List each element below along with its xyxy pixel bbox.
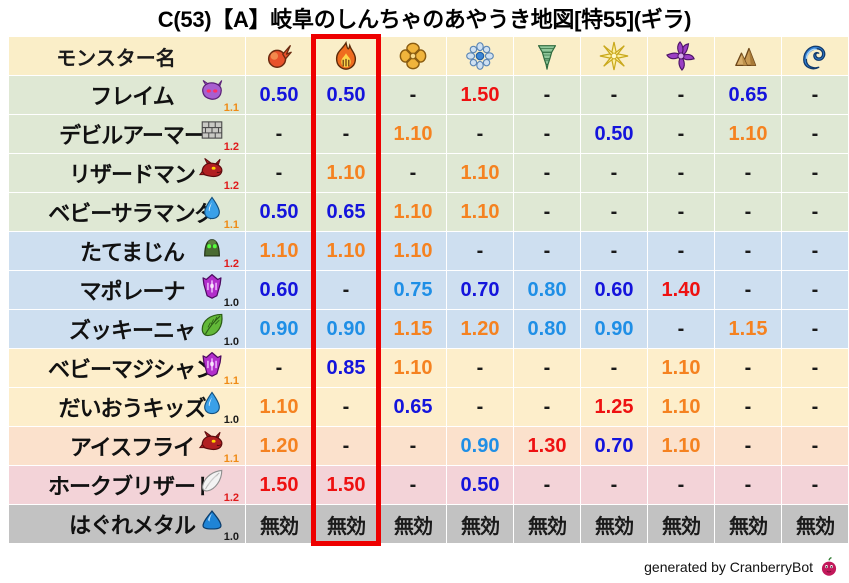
resistance-cell[interactable]: 0.50 [581,115,647,153]
resistance-cell[interactable]: 1.15 [380,310,446,348]
resistance-cell[interactable]: - [581,349,647,387]
monster-icon-box: 1.1 [197,429,239,465]
resistance-cell[interactable]: 無効 [715,505,781,543]
monster-name-label: デビルアーマー [59,118,205,150]
table-row[interactable]: デビルアーマー1.2--1.10--0.50-1.10- [9,115,848,153]
resistance-cell[interactable]: - [715,427,781,465]
resistance-cell[interactable]: - [782,310,848,348]
monster-icon-box: 1.0 [197,312,239,348]
resistance-cell[interactable]: 無効 [648,505,714,543]
resistance-cell[interactable]: - [447,349,513,387]
resistance-cell[interactable]: - [447,232,513,270]
red-dragon-icon [199,156,225,182]
resistance-cell[interactable]: - [715,271,781,309]
monster-name-cell[interactable]: ベビーサラマンダ1.1 [9,193,245,231]
monster-icon-box: 1.1 [197,195,239,231]
monster-name-label: ズッキーニャ [69,313,195,345]
red-dragon-icon [199,429,225,455]
resistance-cell[interactable]: 0.65 [313,193,379,231]
purple-blob-icon [199,78,225,104]
white-feather-icon [199,468,225,494]
resistance-cell[interactable]: - [380,154,446,192]
resistance-cell[interactable]: - [581,193,647,231]
monster-version-label: 1.2 [224,493,239,504]
resistance-cell[interactable]: - [514,388,580,426]
monster-icon-box: 1.1 [197,351,239,387]
resistance-cell[interactable]: - [581,466,647,504]
resistance-cell[interactable]: 無効 [447,505,513,543]
monster-name-label: アイスフライ [70,430,194,462]
resistance-cell[interactable]: - [313,271,379,309]
monster-name-label: フレイム [90,79,174,111]
monster-version-label: 1.1 [224,454,239,465]
monster-version-label: 1.2 [224,142,239,153]
resistance-cell[interactable]: 無効 [514,505,580,543]
resistance-cell[interactable]: 1.50 [313,466,379,504]
monster-version-label: 1.0 [224,415,239,426]
fireball-icon [264,41,294,71]
resistance-cell[interactable]: 1.40 [648,271,714,309]
page-root: C(53)【A】岐阜のしんちゃのあやうき地図[特55](ギラ) モンスター名 フ… [0,0,849,583]
resistance-cell[interactable]: 0.70 [447,271,513,309]
resistance-cell[interactable]: - [246,349,312,387]
column-header-star[interactable] [581,37,647,75]
resistance-cell[interactable]: 0.70 [581,427,647,465]
monster-name-label: マポレーナ [79,274,184,306]
monster-name-label: たてまじん [80,235,184,267]
blue-slime-icon [199,507,225,533]
brick-icon [199,117,225,143]
resistance-cell[interactable]: - [514,193,580,231]
monster-icon-box: 1.0 [197,390,239,426]
page-title: C(53)【A】岐阜のしんちゃのあやうき地図[特55](ギラ) [0,2,849,34]
monster-name-cell[interactable]: フレイム1.1 [9,76,245,114]
flame-icon [331,41,361,71]
resistance-cell[interactable]: 0.80 [514,310,580,348]
resistance-cell[interactable]: - [782,115,848,153]
resistance-cell[interactable]: - [648,193,714,231]
table-row[interactable]: はぐれメタル1.0無効無効無効無効無効無効無効無効無効 [9,505,848,543]
table-body: フレイム1.10.500.50-1.50---0.65-デビルアーマー1.2--… [9,76,848,543]
column-header-flame[interactable] [313,37,379,75]
monster-version-label: 1.0 [224,337,239,348]
tornado-icon [532,41,562,71]
resistance-cell[interactable]: - [782,349,848,387]
mountain-icon [733,41,763,71]
column-header-mountain[interactable] [715,37,781,75]
resistance-cell[interactable]: 1.10 [313,154,379,192]
monster-name-header: モンスター名 [9,37,245,75]
monster-name-cell[interactable]: アイスフライ1.1 [9,427,245,465]
water-drop-icon [199,390,225,416]
table-row[interactable]: アイスフライ1.11.20--0.901.300.701.10-- [9,427,848,465]
resistance-cell[interactable]: 無効 [782,505,848,543]
resistance-cell[interactable]: - [514,349,580,387]
resistance-cell[interactable]: - [715,388,781,426]
resistance-cell[interactable]: - [514,115,580,153]
resistance-cell[interactable]: - [313,427,379,465]
resistance-cell[interactable]: 1.20 [246,427,312,465]
table-row[interactable]: ズッキーニャ1.00.900.901.151.200.800.90-1.15- [9,310,848,348]
resistance-cell[interactable]: 1.20 [447,310,513,348]
resistance-cell[interactable]: 1.10 [715,115,781,153]
monster-resistance-table-wrap: モンスター名 フレイム1.10.500.50-1.50---0.65-デビルアー… [8,36,842,544]
wave-icon [800,41,830,71]
resistance-cell[interactable]: 0.50 [447,466,513,504]
monster-name-label: ホークブリザード [48,469,216,501]
resistance-cell[interactable]: 1.10 [246,232,312,270]
resistance-cell[interactable]: - [648,154,714,192]
monster-name-cell[interactable]: だいおうキッズ1.0 [9,388,245,426]
resistance-cell[interactable]: 1.30 [514,427,580,465]
leaf-icon [199,312,225,338]
column-header-tornado[interactable] [514,37,580,75]
water-drop-icon [199,195,225,221]
resistance-cell[interactable]: 無効 [581,505,647,543]
monster-name-cell[interactable]: リザードマン1.2 [9,154,245,192]
resistance-cell[interactable]: - [514,154,580,192]
resistance-cell[interactable]: - [380,466,446,504]
resistance-cell[interactable]: - [514,76,580,114]
swirl-icon [666,41,696,71]
resistance-cell[interactable]: - [782,193,848,231]
column-header-snowflake[interactable] [447,37,513,75]
resistance-cell[interactable]: 無効 [246,505,312,543]
table-row[interactable]: たてまじん1.21.101.101.10------ [9,232,848,270]
resistance-cell[interactable]: - [246,154,312,192]
monster-version-label: 1.0 [224,298,239,309]
monster-resistance-table: モンスター名 フレイム1.10.500.50-1.50---0.65-デビルアー… [8,36,849,544]
cranberry-icon [819,557,839,577]
resistance-cell[interactable]: - [514,466,580,504]
monster-name-label: ベビーマジシャン [48,352,216,384]
monster-version-label: 1.2 [224,259,239,270]
column-header-wave[interactable] [782,37,848,75]
table-row[interactable]: ベビーマジシャン1.1-0.851.10---1.10-- [9,349,848,387]
resistance-cell[interactable]: - [380,76,446,114]
resistance-cell[interactable]: - [581,154,647,192]
resistance-cell[interactable]: 0.50 [313,76,379,114]
resistance-cell[interactable]: - [648,76,714,114]
resistance-cell[interactable]: 1.10 [648,388,714,426]
monster-icon-box: 1.1 [197,78,239,114]
resistance-cell[interactable]: - [782,271,848,309]
resistance-cell[interactable]: 1.10 [447,193,513,231]
table-row[interactable]: ベビーサラマンダ1.10.500.651.101.10----- [9,193,848,231]
footer: generated by CranberryBot [644,557,839,577]
monster-name-cell[interactable]: マポレーナ1.0 [9,271,245,309]
resistance-cell[interactable]: 0.65 [715,76,781,114]
resistance-cell[interactable]: 1.10 [313,232,379,270]
monster-name-label: はぐれメタル [69,508,195,540]
resistance-cell[interactable]: - [514,232,580,270]
resistance-cell[interactable]: 0.50 [246,76,312,114]
resistance-cell[interactable]: - [648,232,714,270]
monster-name-cell[interactable]: ズッキーニャ1.0 [9,310,245,348]
resistance-cell[interactable]: - [782,466,848,504]
resistance-cell[interactable]: 1.15 [715,310,781,348]
green-golem-icon [199,234,225,260]
resistance-cell[interactable]: 0.90 [246,310,312,348]
monster-name-cell[interactable]: たてまじん1.2 [9,232,245,270]
monster-version-label: 1.1 [224,103,239,114]
monster-icon-box: 1.2 [197,117,239,153]
resistance-cell[interactable]: 1.10 [380,349,446,387]
resistance-cell[interactable]: 0.90 [581,310,647,348]
table-row[interactable]: だいおうキッズ1.01.10-0.65--1.251.10-- [9,388,848,426]
column-header-swirl[interactable] [648,37,714,75]
resistance-cell[interactable]: 0.60 [246,271,312,309]
purple-trident-icon [199,351,225,377]
monster-name-label: リザードマン [69,157,195,189]
resistance-cell[interactable]: 1.10 [447,154,513,192]
resistance-cell[interactable]: 0.85 [313,349,379,387]
resistance-cell[interactable]: 1.50 [246,466,312,504]
monster-version-label: 1.1 [224,376,239,387]
resistance-cell[interactable]: - [313,115,379,153]
monster-name-cell[interactable]: ホークブリザード1.2 [9,466,245,504]
header-row: モンスター名 [9,37,848,75]
resistance-cell[interactable]: - [782,388,848,426]
monster-version-label: 1.0 [224,532,239,543]
resistance-cell[interactable]: 1.50 [447,76,513,114]
resistance-cell[interactable]: - [782,427,848,465]
resistance-cell[interactable]: 1.10 [380,232,446,270]
resistance-cell[interactable]: - [380,427,446,465]
purple-trident-icon [199,273,225,299]
snowflake-icon [465,41,495,71]
resistance-cell[interactable]: 1.10 [380,115,446,153]
resistance-cell[interactable]: 1.10 [380,193,446,231]
resistance-cell[interactable]: 0.80 [514,271,580,309]
resistance-cell[interactable]: 0.60 [581,271,647,309]
table-header: モンスター名 [9,37,848,75]
resistance-cell[interactable]: 1.10 [648,349,714,387]
resistance-cell[interactable]: 無効 [380,505,446,543]
monster-icon-box: 1.2 [197,468,239,504]
resistance-cell[interactable]: - [581,76,647,114]
table-row[interactable]: リザードマン1.2-1.10-1.10----- [9,154,848,192]
resistance-cell[interactable]: 0.75 [380,271,446,309]
resistance-cell[interactable]: 1.10 [648,427,714,465]
monster-version-label: 1.2 [224,181,239,192]
resistance-cell[interactable]: 1.10 [246,388,312,426]
resistance-cell[interactable]: - [447,388,513,426]
monster-name-cell[interactable]: デビルアーマー1.2 [9,115,245,153]
resistance-cell[interactable]: - [581,232,647,270]
resistance-cell[interactable]: - [447,115,513,153]
resistance-cell[interactable]: - [715,193,781,231]
resistance-cell[interactable]: 0.90 [313,310,379,348]
monster-icon-box: 1.0 [197,507,239,543]
resistance-cell[interactable]: - [313,388,379,426]
resistance-cell[interactable]: 1.25 [581,388,647,426]
resistance-cell[interactable]: - [715,154,781,192]
table-row[interactable]: ホークブリザード1.21.501.50-0.50----- [9,466,848,504]
resistance-cell[interactable]: - [715,349,781,387]
star-icon [599,41,629,71]
footer-credit-text: generated by CranberryBot [644,559,813,575]
resistance-cell[interactable]: 0.50 [246,193,312,231]
resistance-cell[interactable]: - [782,76,848,114]
monster-name-cell[interactable]: はぐれメタル1.0 [9,505,245,543]
table-row[interactable]: マポレーナ1.00.60-0.750.700.800.601.40-- [9,271,848,309]
monster-name-label: だいおうキッズ [58,391,205,423]
resistance-cell[interactable]: 0.65 [380,388,446,426]
monster-icon-box: 1.2 [197,234,239,270]
explosion-icon [398,41,428,71]
resistance-cell[interactable]: - [715,232,781,270]
monster-icon-box: 1.0 [197,273,239,309]
monster-version-label: 1.1 [224,220,239,231]
table-row[interactable]: フレイム1.10.500.50-1.50---0.65- [9,76,848,114]
resistance-cell[interactable]: - [782,232,848,270]
resistance-cell[interactable]: - [715,466,781,504]
resistance-cell[interactable]: - [648,115,714,153]
resistance-cell[interactable]: - [648,310,714,348]
resistance-cell[interactable]: - [648,466,714,504]
resistance-cell[interactable]: - [782,154,848,192]
column-header-explosion[interactable] [380,37,446,75]
monster-name-cell[interactable]: ベビーマジシャン1.1 [9,349,245,387]
column-header-fireball[interactable] [246,37,312,75]
resistance-cell[interactable]: 無効 [313,505,379,543]
monster-icon-box: 1.2 [197,156,239,192]
resistance-cell[interactable]: - [246,115,312,153]
resistance-cell[interactable]: 0.90 [447,427,513,465]
monster-name-label: ベビーサラマンダ [48,196,216,228]
